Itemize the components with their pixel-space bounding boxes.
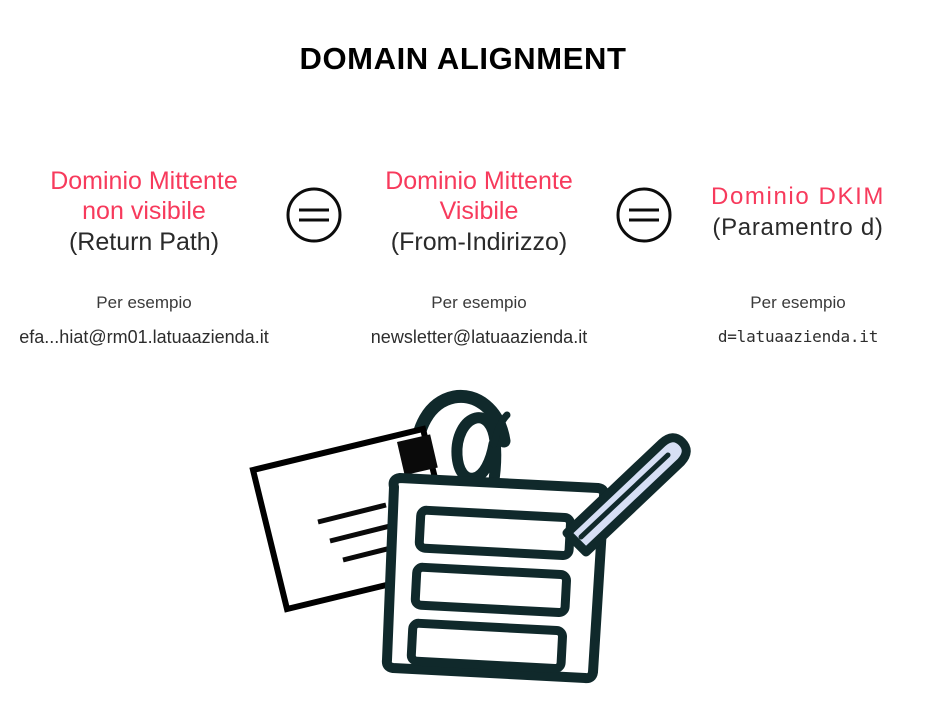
page-title: DOMAIN ALIGNMENT xyxy=(0,40,926,78)
example-2-value: newsletter@latuaazienda.it xyxy=(350,325,608,349)
equals-circle-icon xyxy=(284,185,344,245)
column-1-heading-line1: Dominio Mittente xyxy=(10,167,278,197)
form-document-icon xyxy=(387,478,604,678)
column-3-subheading: (Paramentro d) xyxy=(680,214,916,242)
column-return-path: Dominio Mittente non visibile (Return Pa… xyxy=(10,167,278,258)
example-3-value: d=latuaazienda.it xyxy=(680,325,916,349)
email-envelope-form-pen-illustration xyxy=(245,385,705,695)
column-2-heading-line1: Dominio Mittente xyxy=(350,167,608,197)
column-from-address: Dominio Mittente Visibile (From-Indirizz… xyxy=(350,167,608,258)
equals-circle-icon xyxy=(614,185,674,245)
column-3-heading-line1: Dominio DKIM xyxy=(680,183,916,211)
example-2-label: Per esempio xyxy=(350,292,608,314)
alignment-columns-row: Dominio Mittente non visibile (Return Pa… xyxy=(0,155,926,270)
example-from-address: Per esempio newsletter@latuaazienda.it xyxy=(350,292,608,349)
equals-operator-2 xyxy=(608,185,680,245)
equals-operator-1 xyxy=(278,185,350,245)
example-1-label: Per esempio xyxy=(10,292,278,314)
column-dkim: Dominio DKIM (Paramentro d) xyxy=(680,183,916,242)
email-illustration xyxy=(245,385,705,695)
examples-row: Per esempio efa...hiat@rm01.latuaazienda… xyxy=(0,292,926,366)
example-dkim: Per esempio d=latuaazienda.it xyxy=(680,292,916,349)
column-1-subheading: (Return Path) xyxy=(10,228,278,258)
column-2-subheading: (From-Indirizzo) xyxy=(350,228,608,258)
column-2-heading-line2: Visibile xyxy=(350,197,608,227)
example-return-path: Per esempio efa...hiat@rm01.latuaazienda… xyxy=(10,292,278,349)
example-1-value: efa...hiat@rm01.latuaazienda.it xyxy=(10,325,278,349)
column-1-heading-line2: non visibile xyxy=(10,197,278,227)
example-3-label: Per esempio xyxy=(680,292,916,314)
